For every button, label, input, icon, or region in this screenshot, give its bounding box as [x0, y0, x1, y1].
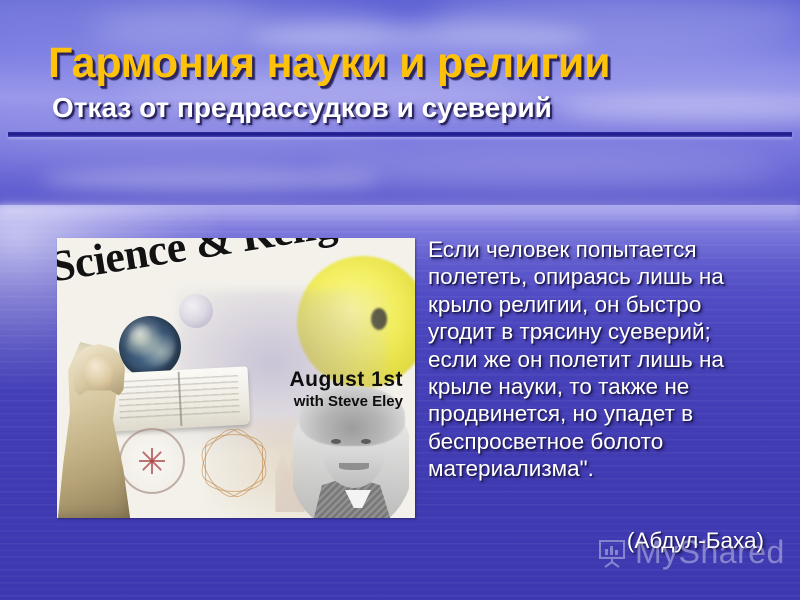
image-event-host: with Steve Eley: [289, 393, 403, 410]
einstein-eye-left: [331, 439, 341, 444]
title-divider: [8, 132, 792, 137]
presentation-slide: Гармония науки и религии Отказ от предра…: [0, 0, 800, 600]
quote-attribution: (Абдул-Баха): [428, 528, 780, 554]
quote-text: Если человек попытается полететь, опирая…: [428, 236, 764, 483]
image-event-date: August 1st: [289, 368, 403, 392]
einstein-moustache: [339, 463, 369, 470]
slide-subtitle: Отказ от предрассудков и суеверий: [52, 93, 772, 124]
image-event-info: August 1st with Steve Eley: [289, 368, 403, 410]
open-book-icon: [108, 366, 251, 431]
slide-title: Гармония науки и религии: [48, 40, 768, 86]
moon-icon: [179, 294, 213, 328]
compass-rose-icon: [119, 428, 185, 494]
image-canvas: Science & Religion August 1st with Steve…: [57, 238, 415, 518]
robed-figure-head: [83, 354, 113, 390]
science-religion-image: Science & Religion August 1st with Steve…: [57, 238, 415, 518]
einstein-eye-right: [361, 439, 371, 444]
book-text-lines: [118, 375, 240, 423]
earth-globe-icon: [119, 316, 181, 378]
atom-diagram-icon: [205, 434, 263, 492]
